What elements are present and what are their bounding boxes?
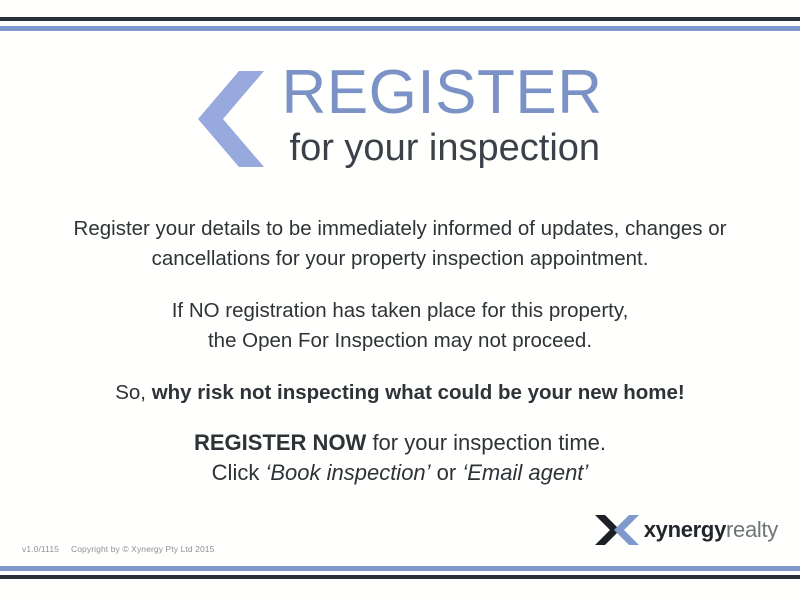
cta-book-inspection-option[interactable]: ‘Book inspection’ — [265, 460, 430, 485]
cta-conjunction: or — [431, 460, 463, 485]
paragraph-three-emphasis: why risk not inspecting what could be yo… — [152, 381, 685, 404]
chevron-left-icon — [198, 71, 264, 167]
paragraph-three: So, why risk not inspecting what could b… — [0, 378, 800, 408]
bottom-dark-rule — [0, 575, 800, 579]
paragraph-two-line-two: the Open For Inspection may not proceed. — [0, 326, 800, 356]
paragraph-one-line-one: Register your details to be immediately … — [0, 214, 800, 244]
footer: v1.0/1115Copyright by © Xynergy Pty Ltd … — [22, 544, 214, 554]
call-to-action: REGISTER NOW for your inspection time. C… — [0, 428, 800, 488]
cta-line-one: REGISTER NOW for your inspection time. — [0, 428, 800, 458]
top-dark-rule — [0, 17, 800, 21]
logo-word-secondary: realty — [726, 517, 778, 542]
page-header: REGISTER for your inspection — [0, 62, 800, 177]
top-blue-rule — [0, 26, 800, 31]
body-copy: Register your details to be immediately … — [0, 214, 800, 408]
cta-line-one-rest: for your inspection time. — [366, 430, 606, 455]
footer-copyright: Copyright by © Xynergy Pty Ltd 2015 — [71, 544, 214, 554]
cta-email-agent-option[interactable]: ‘Email agent’ — [462, 460, 588, 485]
paragraph-three-lead: So, — [115, 381, 151, 404]
page-subtitle: for your inspection — [290, 126, 603, 170]
logo-word-primary: xynergy — [644, 517, 726, 542]
register-inspection-page: REGISTER for your inspection Register yo… — [0, 0, 800, 600]
paragraph-one: Register your details to be immediately … — [0, 214, 800, 274]
cta-line-two: Click ‘Book inspection’ or ‘Email agent’ — [0, 458, 800, 488]
paragraph-one-line-two: cancellations for your property inspecti… — [0, 244, 800, 274]
footer-version: v1.0/1115 — [22, 544, 59, 554]
paragraph-two: If NO registration has taken place for t… — [0, 296, 800, 356]
cta-register-now: REGISTER NOW — [194, 430, 366, 455]
paragraph-two-line-one: If NO registration has taken place for t… — [0, 296, 800, 326]
xynergy-realty-logo: xynergyrealty — [595, 515, 778, 545]
xynergy-x-mark-icon — [595, 515, 639, 545]
logo-wordmark: xynergyrealty — [644, 519, 778, 541]
cta-click-prefix: Click — [212, 460, 266, 485]
bottom-blue-rule — [0, 566, 800, 571]
paragraph-three-line: So, why risk not inspecting what could b… — [0, 378, 800, 408]
page-title: REGISTER — [282, 62, 603, 124]
